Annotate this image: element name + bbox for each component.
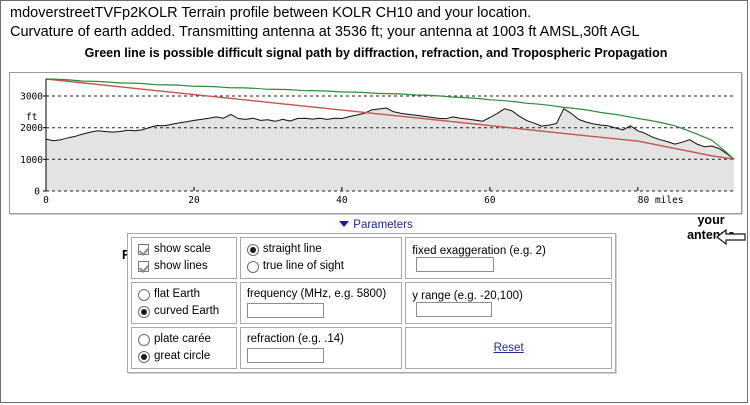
svg-text:2000: 2000 (20, 123, 43, 134)
show-lines-option[interactable]: show lines (138, 259, 230, 274)
page-title-line2: Curvature of earth added. Transmitting a… (1, 23, 640, 42)
true-line-of-sight-label: true line of sight (263, 259, 344, 274)
terrain-profile-page: mdoverstreetTVFp2KOLR Terrain profile be… (0, 0, 748, 403)
flat-earth-radio[interactable] (138, 289, 150, 301)
svg-text:60: 60 (484, 195, 496, 206)
show-scale-checkbox[interactable] (138, 244, 149, 255)
parameters-toggle[interactable]: Parameters (1, 219, 750, 231)
straight-line-option[interactable]: straight line (247, 242, 395, 257)
flat-earth-option[interactable]: flat Earth (138, 287, 230, 302)
left-arrow-icon (716, 228, 746, 251)
refraction-input[interactable] (247, 348, 324, 363)
svg-text:20: 20 (188, 195, 200, 206)
terrain-profile-chart: 0100020003000 020406080 miles ft Red lin… (9, 72, 742, 214)
green-line-caption: Green line is possible difficult signal … (1, 46, 750, 60)
page-title-line1: mdoverstreetTVFp2KOLR Terrain profile be… (1, 4, 531, 23)
show-lines-label: show lines (154, 259, 208, 274)
svg-text:0: 0 (34, 187, 40, 198)
refraction-label: refraction (e.g. .14) (247, 333, 395, 345)
frequency-label: frequency (MHz, e.g. 5800) (247, 288, 395, 300)
y-axis-unit-label: ft (26, 112, 37, 123)
y-range-cell: y range (e.g. -20,100) (405, 282, 612, 324)
true-line-of-sight-radio[interactable] (247, 261, 259, 273)
parameters-panel: show scale show lines straight line true… (127, 233, 616, 373)
refraction-cell: refraction (e.g. .14) (240, 327, 402, 369)
controls-row-1: show scale show lines straight line true… (131, 237, 612, 279)
show-lines-checkbox[interactable] (138, 261, 149, 272)
terrain-chart-svg: 0100020003000 020406080 miles ft (10, 73, 741, 213)
reset-link[interactable]: Reset (494, 342, 524, 354)
great-circle-option[interactable]: great circle (138, 349, 230, 364)
earth-model-cell: flat Earth curved Earth (131, 282, 237, 324)
reset-cell: Reset (405, 327, 612, 369)
svg-text:40: 40 (336, 195, 348, 206)
svg-text:1000: 1000 (20, 155, 43, 166)
straight-line-label: straight line (263, 242, 322, 257)
flat-earth-label: flat Earth (154, 287, 200, 302)
display-options-cell: show scale show lines (131, 237, 237, 279)
great-circle-label: great circle (154, 349, 210, 364)
path-mode-cell: straight line true line of sight (240, 237, 402, 279)
controls-row-2: flat Earth curved Earth frequency (MHz, … (131, 282, 612, 324)
svg-text:3000: 3000 (20, 92, 43, 103)
fixed-exaggeration-input[interactable] (416, 257, 494, 272)
plate-caree-label: plate carée (154, 332, 211, 347)
frequency-input[interactable] (247, 303, 324, 318)
controls-row-3: plate carée great circle refraction (e.g… (131, 327, 612, 369)
plate-caree-option[interactable]: plate carée (138, 332, 230, 347)
triangle-down-icon (339, 221, 349, 227)
straight-line-radio[interactable] (247, 244, 259, 256)
y-range-label: y range (e.g. -20,100) (412, 290, 523, 302)
y-range-input[interactable] (416, 302, 492, 317)
fixed-exaggeration-cell: fixed exaggeration (e.g. 2) (405, 237, 612, 279)
curved-earth-option[interactable]: curved Earth (138, 304, 230, 319)
frequency-cell: frequency (MHz, e.g. 5800) (240, 282, 402, 324)
great-circle-radio[interactable] (138, 351, 150, 363)
show-scale-label: show scale (154, 242, 211, 257)
show-scale-option[interactable]: show scale (138, 242, 230, 257)
fixed-exaggeration-label: fixed exaggeration (e.g. 2) (412, 245, 546, 257)
svg-text:0: 0 (43, 195, 49, 206)
projection-cell: plate carée great circle (131, 327, 237, 369)
curved-earth-radio[interactable] (138, 306, 150, 318)
true-line-of-sight-option[interactable]: true line of sight (247, 259, 395, 274)
svg-text:80 miles: 80 miles (638, 195, 684, 206)
plate-caree-radio[interactable] (138, 334, 150, 346)
parameters-toggle-label[interactable]: Parameters (353, 219, 412, 231)
curved-earth-label: curved Earth (154, 304, 219, 319)
